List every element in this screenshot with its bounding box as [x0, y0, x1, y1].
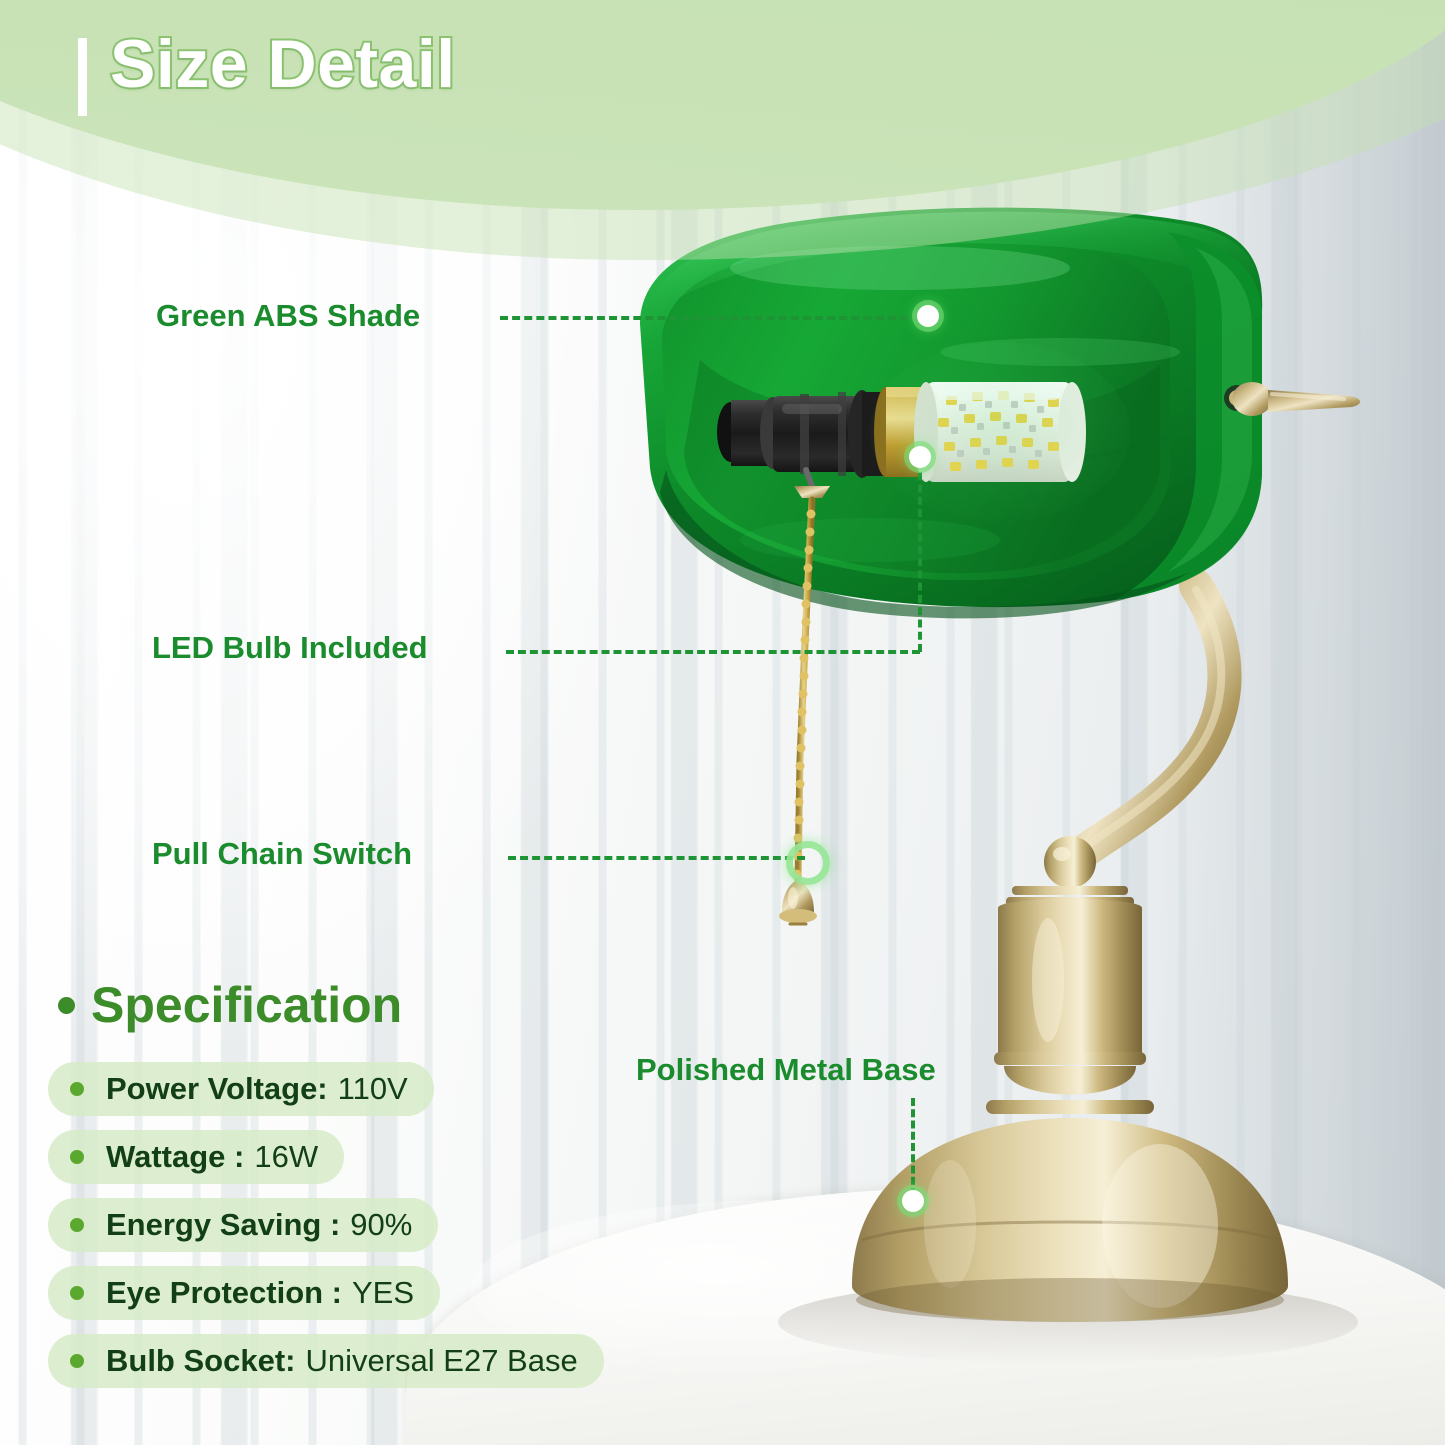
callout-leader-green-abs-shade — [500, 316, 920, 320]
spec-value: 90% — [350, 1207, 412, 1243]
bullet-icon — [70, 1150, 84, 1164]
callout-leader-metal-base — [911, 1098, 915, 1196]
spec-value: 110V — [338, 1071, 408, 1107]
spec-value: Universal E27 Base — [305, 1343, 577, 1379]
bullet-icon — [70, 1286, 84, 1300]
banner-accent-bar — [78, 38, 87, 116]
callout-label-led-bulb: LED Bulb Included — [152, 630, 428, 666]
specification-heading-text: Specification — [91, 980, 402, 1030]
spec-row-bulb-socket: Bulb Socket: Universal E27 Base — [48, 1334, 604, 1388]
spec-row-eye-protection: Eye Protection : YES — [48, 1266, 440, 1320]
spec-key: Energy Saving : — [106, 1207, 340, 1243]
specification-heading: Specification — [58, 980, 402, 1030]
callout-leader-pull-chain — [508, 856, 805, 860]
callout-label-metal-base: Polished Metal Base — [636, 1052, 936, 1088]
callout-label-green-abs-shade: Green ABS Shade — [156, 298, 420, 334]
callout-label-pull-chain: Pull Chain Switch — [152, 836, 412, 872]
spec-key: Bulb Socket: — [106, 1343, 295, 1379]
spec-key: Eye Protection : — [106, 1275, 342, 1311]
specification-list: Power Voltage: 110V Wattage : 16W Energy… — [48, 1062, 604, 1402]
page-title: Size Detail — [110, 30, 456, 98]
callout-marker-green-abs-shade — [917, 305, 939, 327]
spec-row-power-voltage: Power Voltage: 110V — [48, 1062, 434, 1116]
spec-key: Power Voltage: — [106, 1071, 328, 1107]
bullet-icon — [70, 1354, 84, 1368]
callout-marker-metal-base — [902, 1190, 924, 1212]
infographic-canvas: Size Detail Green ABS Shade LED Bulb Inc… — [0, 0, 1445, 1445]
callout-leader-led-bulb-vertical — [918, 460, 922, 652]
spec-value: YES — [352, 1275, 414, 1311]
spec-value: 16W — [254, 1139, 318, 1175]
spec-key: Wattage : — [106, 1139, 244, 1175]
spec-row-energy-saving: Energy Saving : 90% — [48, 1198, 438, 1252]
bullet-icon — [58, 997, 75, 1014]
bullet-icon — [70, 1218, 84, 1232]
callout-marker-led-bulb — [909, 446, 931, 468]
callout-marker-pull-chain — [786, 841, 830, 885]
bullet-icon — [70, 1082, 84, 1096]
spec-row-wattage: Wattage : 16W — [48, 1130, 344, 1184]
callout-leader-led-bulb-horizontal — [506, 650, 920, 654]
